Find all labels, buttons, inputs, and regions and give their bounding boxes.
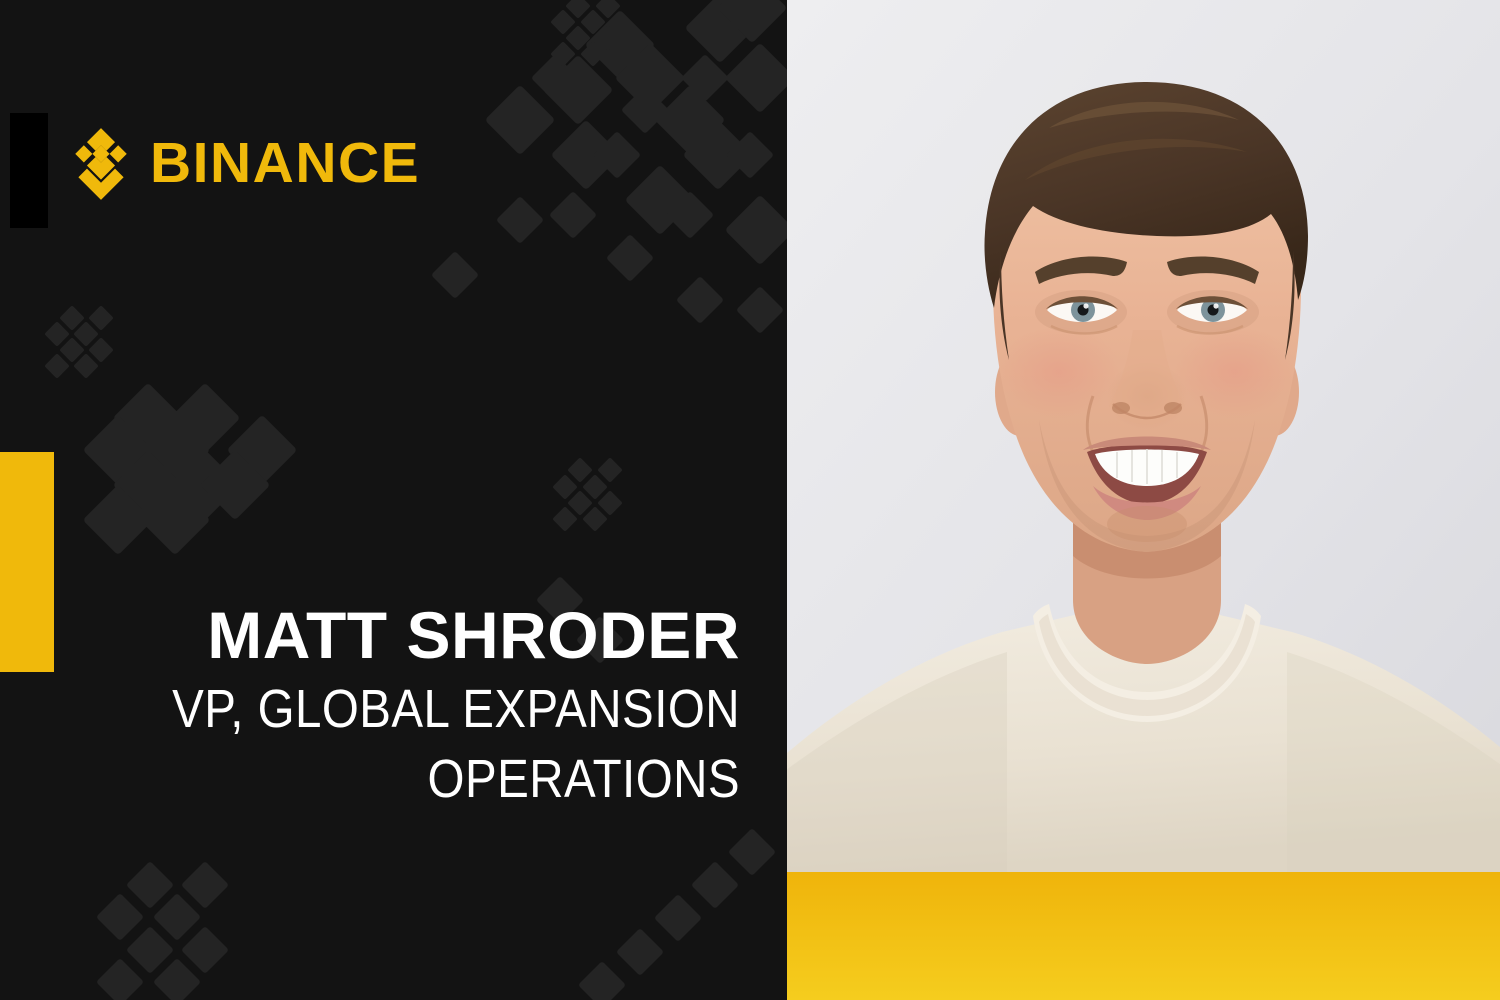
speaker-name: MATT SHRODER [40,596,740,674]
logo-black-block [10,113,48,228]
dark-branding-panel: BINANCE MATT SHRODER VP, GLOBAL EXPANSIO… [0,0,787,1000]
speaker-text-block: MATT SHRODER VP, GLOBAL EXPANSION OPERAT… [40,596,740,814]
binance-wordmark: BINANCE [150,127,420,199]
portrait-panel [787,0,1500,1000]
speaker-title-line-1: VP, GLOBAL EXPANSION [124,674,740,744]
speaker-announcement-card: BINANCE MATT SHRODER VP, GLOBAL EXPANSIO… [0,0,1500,1000]
bottom-yellow-bar [787,872,1500,1000]
binance-diamond-logo-icon [62,125,140,203]
binance-logo-lockup: BINANCE [10,113,390,229]
speaker-portrait-photo [787,0,1500,872]
speaker-title-line-2: OPERATIONS [124,744,740,814]
